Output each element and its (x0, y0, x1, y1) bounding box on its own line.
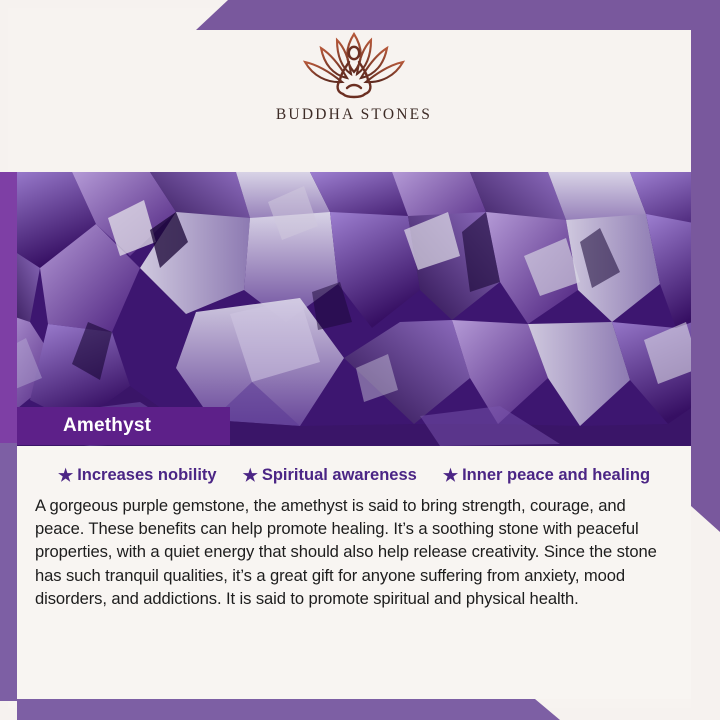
brand-name: BUDDHA STONES (276, 106, 432, 124)
hero-image (0, 172, 720, 446)
benefit-label: Spiritual awareness (262, 466, 417, 485)
benefit-item-2: ★ Inner peace and healing (443, 466, 650, 485)
top-purple-band (196, 0, 720, 30)
hero-caption-label: Amethyst (63, 415, 151, 437)
benefit-item-1: ★ Spiritual awareness (243, 466, 417, 485)
star-icon: ★ (443, 467, 458, 484)
benefit-item-0: ★ Increases nobility (58, 466, 217, 485)
star-icon: ★ (243, 467, 258, 484)
header: BUDDHA STONES (17, 8, 691, 172)
star-icon: ★ (58, 467, 73, 484)
lotus-meditation-icon (279, 26, 429, 104)
hero-caption-bar: Amethyst (17, 407, 230, 445)
description-text: A gorgeous purple gemstone, the amethyst… (35, 494, 673, 610)
benefits-row: ★ Increases nobility ★ Spiritual awarene… (17, 446, 691, 485)
content-area: ★ Increases nobility ★ Spiritual awarene… (17, 446, 691, 699)
infographic-card: BUDDHA STONES Stone Features & Benefits (0, 0, 720, 720)
left-lower-purple-band (0, 443, 17, 701)
benefit-label: Inner peace and healing (462, 466, 650, 485)
amethyst-crystal-cluster-photo (0, 172, 720, 446)
left-upper-purple-band (0, 172, 17, 443)
benefit-label: Increases nobility (77, 466, 216, 485)
right-purple-band (691, 0, 720, 532)
